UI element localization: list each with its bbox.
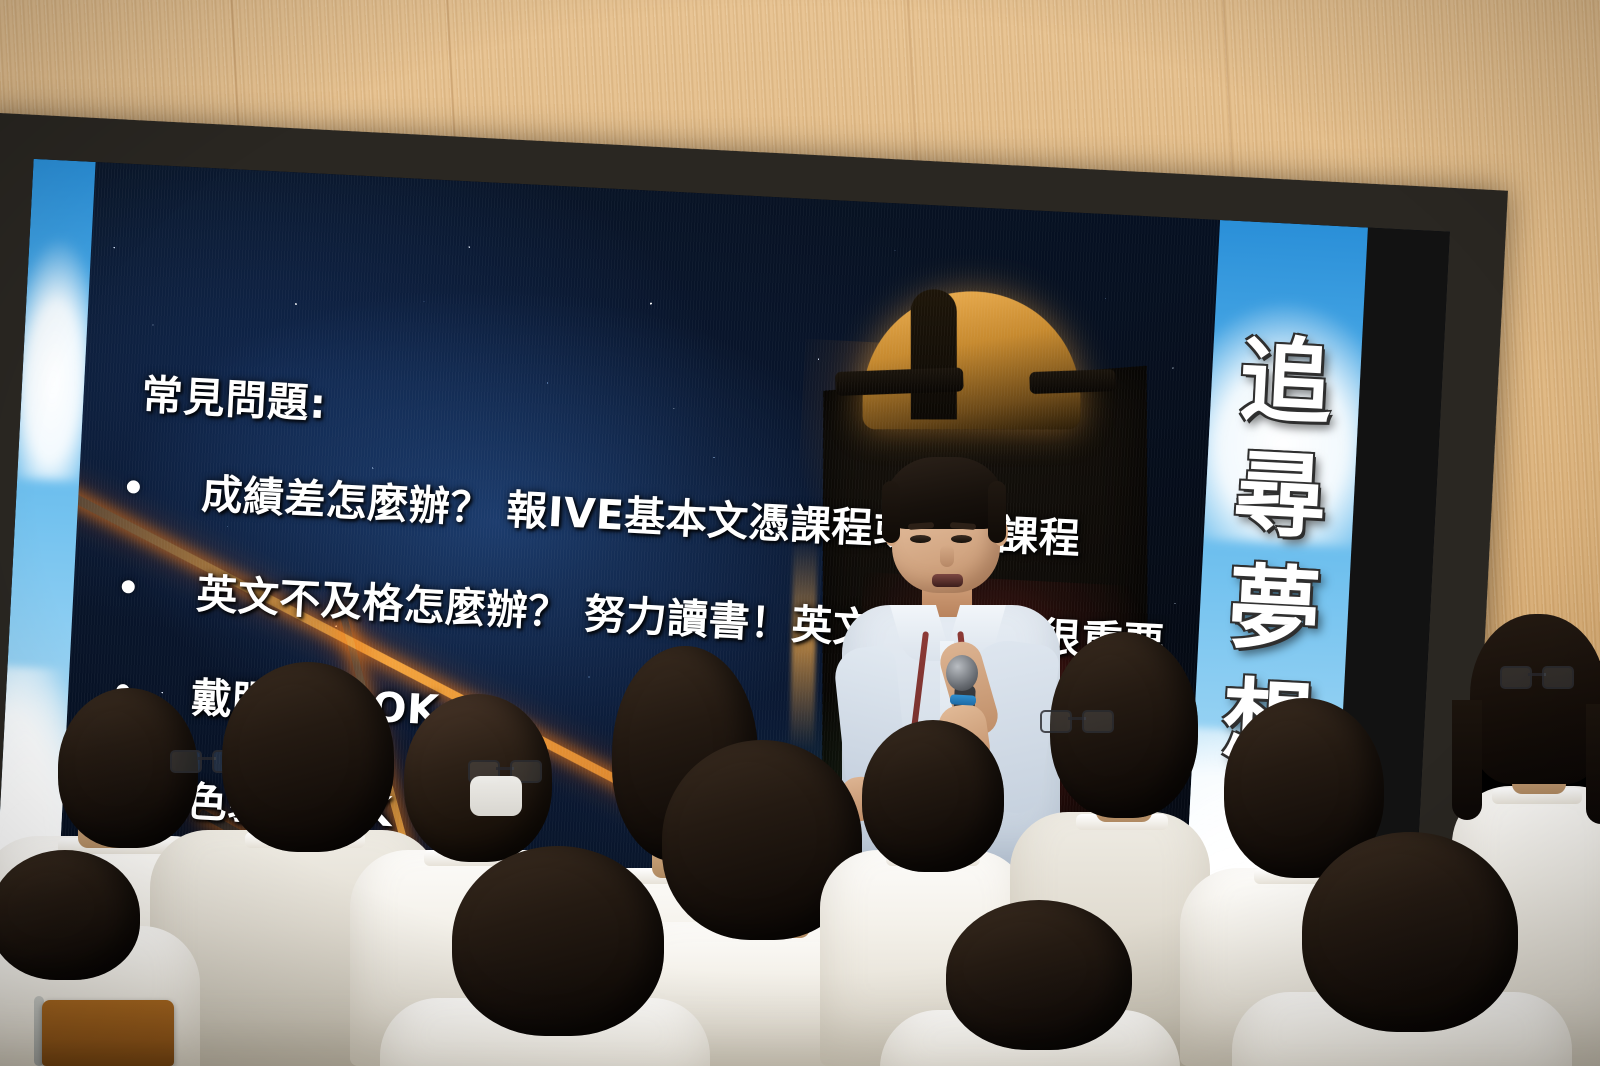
slide-heading: 常見問題: (140, 361, 328, 430)
chair-back (42, 1000, 174, 1066)
speaker-hair-right (988, 481, 1006, 543)
speaker-eye-right (951, 535, 972, 543)
presentation-scene: 常見問題: 成績差怎麼辦？ 報IVE基本文憑課程或毅進課程 英文不及格怎麼辦？ … (0, 0, 1600, 1066)
bullet-dot-icon (127, 480, 141, 494)
audience-group (0, 600, 1600, 1066)
speaker-hair-left (882, 481, 900, 543)
speaker-nose (940, 545, 954, 567)
banner-char-2: 尋 (1232, 447, 1329, 544)
speaker-eye-left (910, 535, 931, 543)
speaker-mouth (932, 574, 963, 587)
banner-char-1: 追 (1238, 333, 1335, 430)
bullet-dot-icon (121, 579, 135, 593)
